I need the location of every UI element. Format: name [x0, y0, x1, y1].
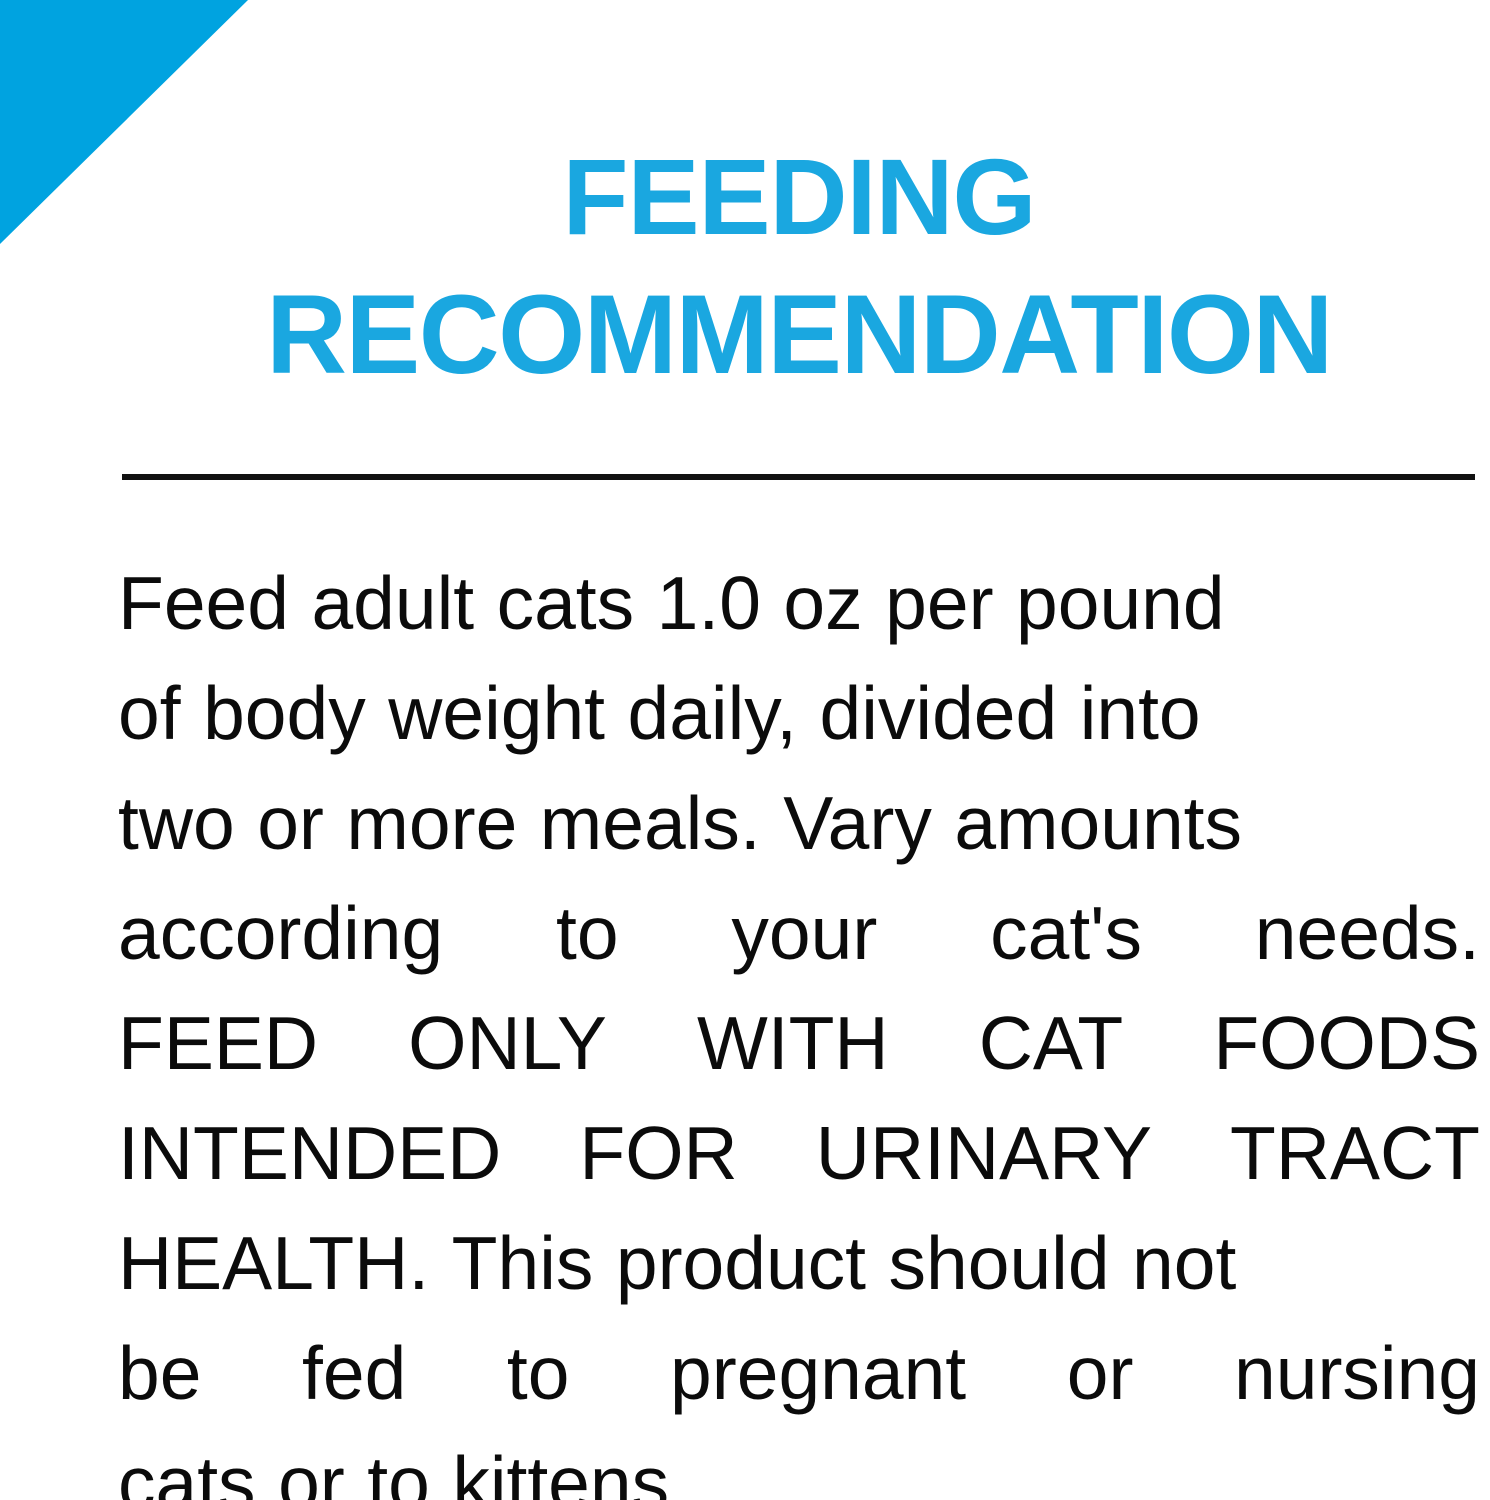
instruction-word: pound [1016, 548, 1225, 658]
instruction-word: pregnant [670, 1318, 966, 1428]
instruction-word: daily, [628, 658, 798, 768]
instruction-word: WITH [697, 988, 889, 1098]
instruction-word: to [556, 878, 619, 988]
instruction-word: nursing [1234, 1318, 1480, 1428]
instruction-word: HEALTH. [118, 1208, 429, 1318]
instruction-word: to [367, 1428, 430, 1500]
instruction-word: not [1132, 1208, 1236, 1318]
instruction-word: body [203, 658, 366, 768]
instruction-word: amounts [954, 768, 1242, 878]
title-divider-rule [122, 474, 1475, 480]
instruction-word: or [1067, 1318, 1134, 1428]
feeding-instructions-text: Feedadultcats1.0ozperpoundofbodyweightda… [118, 548, 1480, 1500]
instruction-word: cat's [990, 878, 1142, 988]
instruction-word: your [731, 878, 877, 988]
instruction-word: needs. [1255, 878, 1480, 988]
instruction-word: cats [497, 548, 635, 658]
instruction-word: divided [820, 658, 1058, 768]
instruction-word: FOODS [1213, 988, 1480, 1098]
instruction-word: be [118, 1318, 201, 1428]
instruction-word: per [885, 548, 993, 658]
instruction-word: URINARY [816, 1098, 1152, 1208]
instruction-word: into [1080, 658, 1201, 768]
instruction-word: cats [118, 1428, 256, 1500]
instruction-word: of [118, 658, 181, 768]
instruction-word: or [257, 768, 324, 878]
instruction-line: FEEDONLYWITHCATFOODS [118, 988, 1480, 1098]
instruction-line: befedtopregnantornursing [118, 1318, 1480, 1428]
page-title: FEEDING RECOMMENDATION [118, 128, 1480, 404]
instruction-line: Feedadultcats1.0ozperpound [118, 548, 1480, 658]
instruction-word: to [507, 1318, 570, 1428]
instruction-word: kittens. [452, 1428, 690, 1500]
page-title-line-2: RECOMMENDATION [118, 266, 1480, 404]
instruction-word: Vary [783, 768, 932, 878]
instruction-word: adult [311, 548, 474, 658]
instruction-line: catsortokittens. [118, 1428, 1480, 1500]
instruction-word: FOR [579, 1098, 737, 1208]
instruction-word: or [278, 1428, 345, 1500]
instruction-word: CAT [979, 988, 1123, 1098]
feeding-recommendation-panel: FEEDING RECOMMENDATION Feedadultcats1.0o… [0, 0, 1490, 1500]
instruction-line: twoormoremeals.Varyamounts [118, 768, 1480, 878]
instruction-word: 1.0 [657, 548, 761, 658]
instruction-word: weight [388, 658, 605, 768]
instruction-word: This [452, 1208, 594, 1318]
instruction-line: ofbodyweightdaily,dividedinto [118, 658, 1480, 768]
instruction-word: product [616, 1208, 866, 1318]
instruction-line: INTENDEDFORURINARYTRACT [118, 1098, 1480, 1208]
instruction-line: accordingtoyourcat'sneeds. [118, 878, 1480, 988]
page-title-line-1: FEEDING [118, 128, 1480, 266]
instruction-word: more [346, 768, 517, 878]
instruction-word: ONLY [408, 988, 607, 1098]
instruction-word: should [889, 1208, 1110, 1318]
instruction-word: TRACT [1230, 1098, 1480, 1208]
instruction-word: meals. [540, 768, 761, 878]
instruction-word: two [118, 768, 235, 878]
instruction-word: INTENDED [118, 1098, 501, 1208]
instruction-word: FEED [118, 988, 318, 1098]
instruction-word: oz [783, 548, 862, 658]
instruction-word: Feed [118, 548, 289, 658]
instruction-word: according [118, 878, 443, 988]
instruction-line: HEALTH.Thisproductshouldnot [118, 1208, 1480, 1318]
instruction-word: fed [302, 1318, 406, 1428]
